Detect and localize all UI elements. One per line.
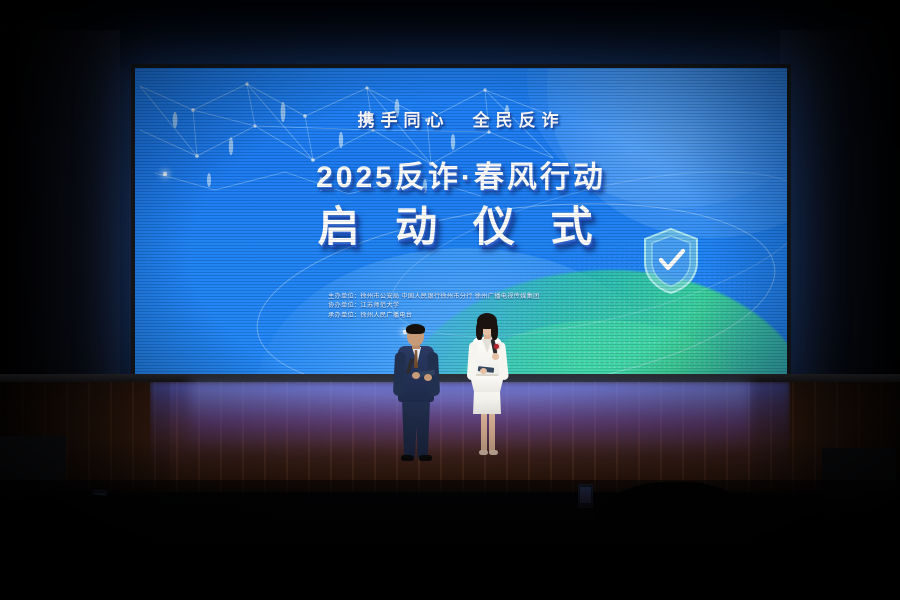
slide-main-title: 2025反诈·春风行动 — [135, 152, 787, 196]
male-hair — [406, 324, 425, 334]
slide-subtitle: 携手同心 全民反诈 — [135, 106, 787, 131]
female-hand-right — [492, 353, 499, 360]
female-hair-side-right — [491, 322, 498, 340]
led-screen: 携手同心 全民反诈 2025反诈·春风行动 启 动 仪 式 主办单位：徐州市公安… — [135, 68, 787, 380]
slide-text-block: 携手同心 全民反诈 2025反诈·春风行动 启 动 仪 式 主办单位：徐州市公安… — [135, 68, 787, 380]
male-hand-left — [412, 372, 420, 379]
male-hand-right — [424, 374, 432, 381]
audience-mass — [0, 480, 900, 600]
led-screen-frame: 携手同心 全民反诈 2025反诈·春风行动 启 动 仪 式 主办单位：徐州市公安… — [131, 64, 791, 384]
ceiling — [0, 0, 900, 70]
credit-line-organizer: 主办单位：徐州市公安局 中国人民银行徐州市分行 徐州广播电视传媒集团 — [328, 292, 658, 301]
stage-photo: 携手同心 全民反诈 2025反诈·春风行动 启 动 仪 式 主办单位：徐州市公安… — [0, 0, 900, 600]
female-hair-side-left — [476, 322, 483, 340]
slide-big-title: 启 动 仪 式 — [135, 193, 787, 254]
female-hand-left — [480, 368, 487, 374]
female-brooch — [494, 344, 499, 349]
credit-line-coorganizer: 协办单位：江苏师范大学 — [328, 301, 658, 310]
audience-silhouettes — [0, 390, 900, 600]
